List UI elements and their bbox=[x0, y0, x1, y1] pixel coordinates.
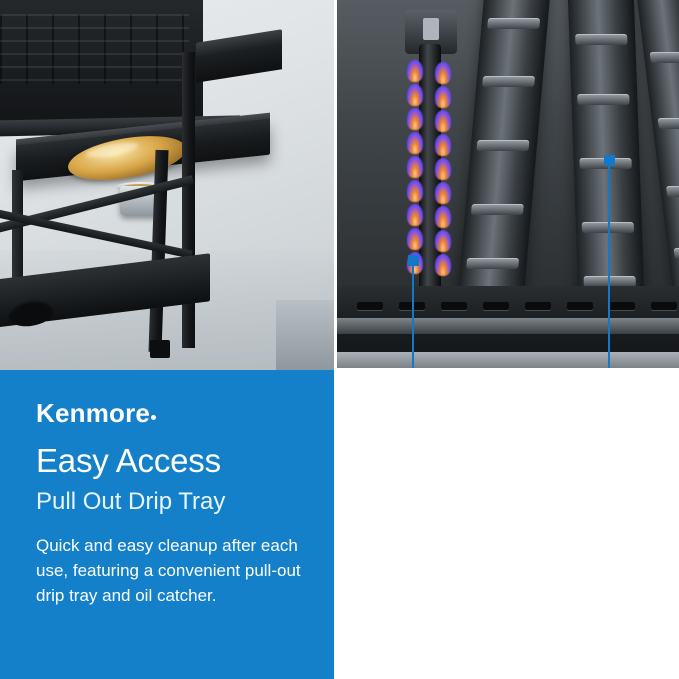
heat-diffuser-plate-2 bbox=[568, 0, 645, 300]
headline: Easy Access bbox=[36, 442, 221, 480]
brand-logo-text: Kenmore bbox=[36, 398, 150, 428]
diffuser-marker-dot bbox=[604, 155, 615, 166]
grill-leg-foot bbox=[150, 340, 170, 358]
burner-flames bbox=[399, 60, 461, 286]
body-copy: Quick and easy cleanup after each use, f… bbox=[36, 533, 304, 608]
subheadline: Pull Out Drip Tray bbox=[36, 488, 225, 516]
brand-logo: Kenmore bbox=[36, 398, 156, 429]
photo-burner-diffusers bbox=[337, 0, 679, 370]
product-feature-graphic: Kenmore Easy Access Pull Out Drip Tray Q… bbox=[0, 0, 679, 679]
brand-logo-dot bbox=[151, 415, 156, 420]
brand-message-panel: Kenmore Easy Access Pull Out Drip Tray Q… bbox=[0, 370, 334, 679]
igniter bbox=[423, 18, 439, 40]
floor-corner bbox=[276, 300, 334, 370]
firebox-front-rail bbox=[337, 318, 679, 334]
photo-drip-tray bbox=[0, 0, 334, 370]
features-panel: 409 Stainless Steel 5 Burner Grill Corro… bbox=[337, 370, 679, 679]
grill-back-panel bbox=[0, 0, 203, 128]
grill-leg-left bbox=[12, 170, 23, 290]
burner-marker-dot bbox=[408, 255, 419, 266]
